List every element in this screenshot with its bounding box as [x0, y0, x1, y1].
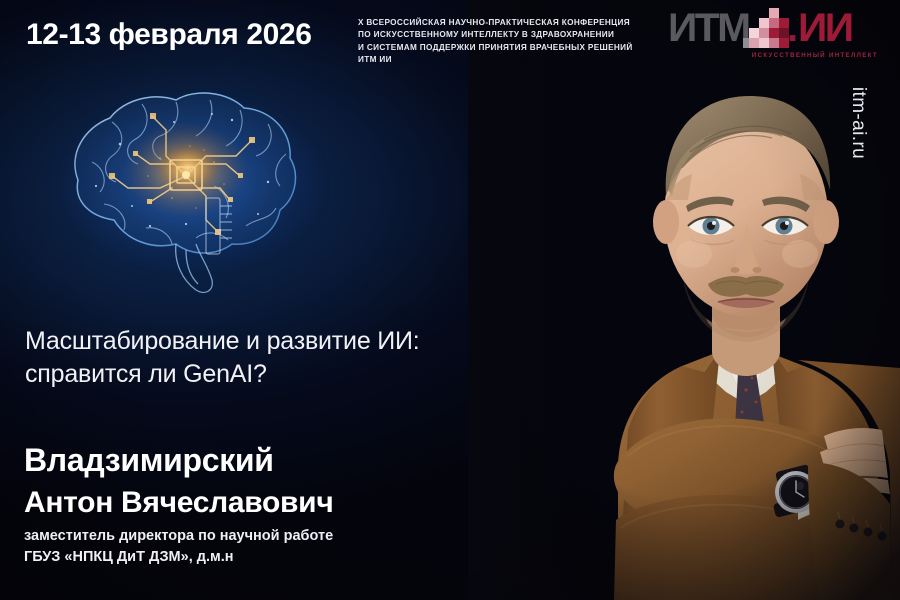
conference-poster: 12-13 февраля 2026 X ВСЕРОССИЙСКАЯ НАУЧН…: [0, 0, 900, 600]
logo-text-ii: ИИ: [798, 8, 852, 48]
speaker-given-name: Антон Вячеславович: [24, 486, 333, 520]
speaker-role-line-2: ГБУЗ «НПКЦ ДиТ ДЗМ», д.м.н: [24, 547, 333, 568]
speaker-role-line-1: заместитель директора по научной работе: [24, 526, 333, 547]
logo-text-itm: ИТМ: [668, 8, 749, 48]
talk-title: Масштабирование и развитие ИИ: справится…: [25, 325, 495, 391]
logo-pixel-diamond-icon: [743, 8, 789, 50]
conference-description-line-2: ПО ИСКУССТВЕННОМУ ИНТЕЛЛЕКТУ В ЗДРАВОХРА…: [358, 29, 658, 41]
event-date: 12-13 февраля 2026: [26, 18, 312, 52]
conference-description-line-3: И СИСТЕМАМ ПОДДЕРЖКИ ПРИНЯТИЯ ВРАЧЕБНЫХ …: [358, 42, 658, 54]
speaker-surname: Владзимирский: [24, 442, 274, 479]
conference-description-line-4: ИТМ ИИ: [358, 54, 658, 66]
talk-title-line-1: Масштабирование и развитие ИИ:: [25, 325, 495, 358]
conference-description: X ВСЕРОССИЙСКАЯ НАУЧНО-ПРАКТИЧЕСКАЯ КОНФ…: [358, 17, 658, 67]
website-url[interactable]: itm-ai.ru: [847, 43, 869, 203]
speaker-role: заместитель директора по научной работе …: [24, 526, 333, 568]
conference-description-line-1: X ВСЕРОССИЙСКАЯ НАУЧНО-ПРАКТИЧЕСКАЯ КОНФ…: [358, 17, 658, 29]
talk-title-line-2: справится ли GenAI?: [25, 358, 495, 391]
